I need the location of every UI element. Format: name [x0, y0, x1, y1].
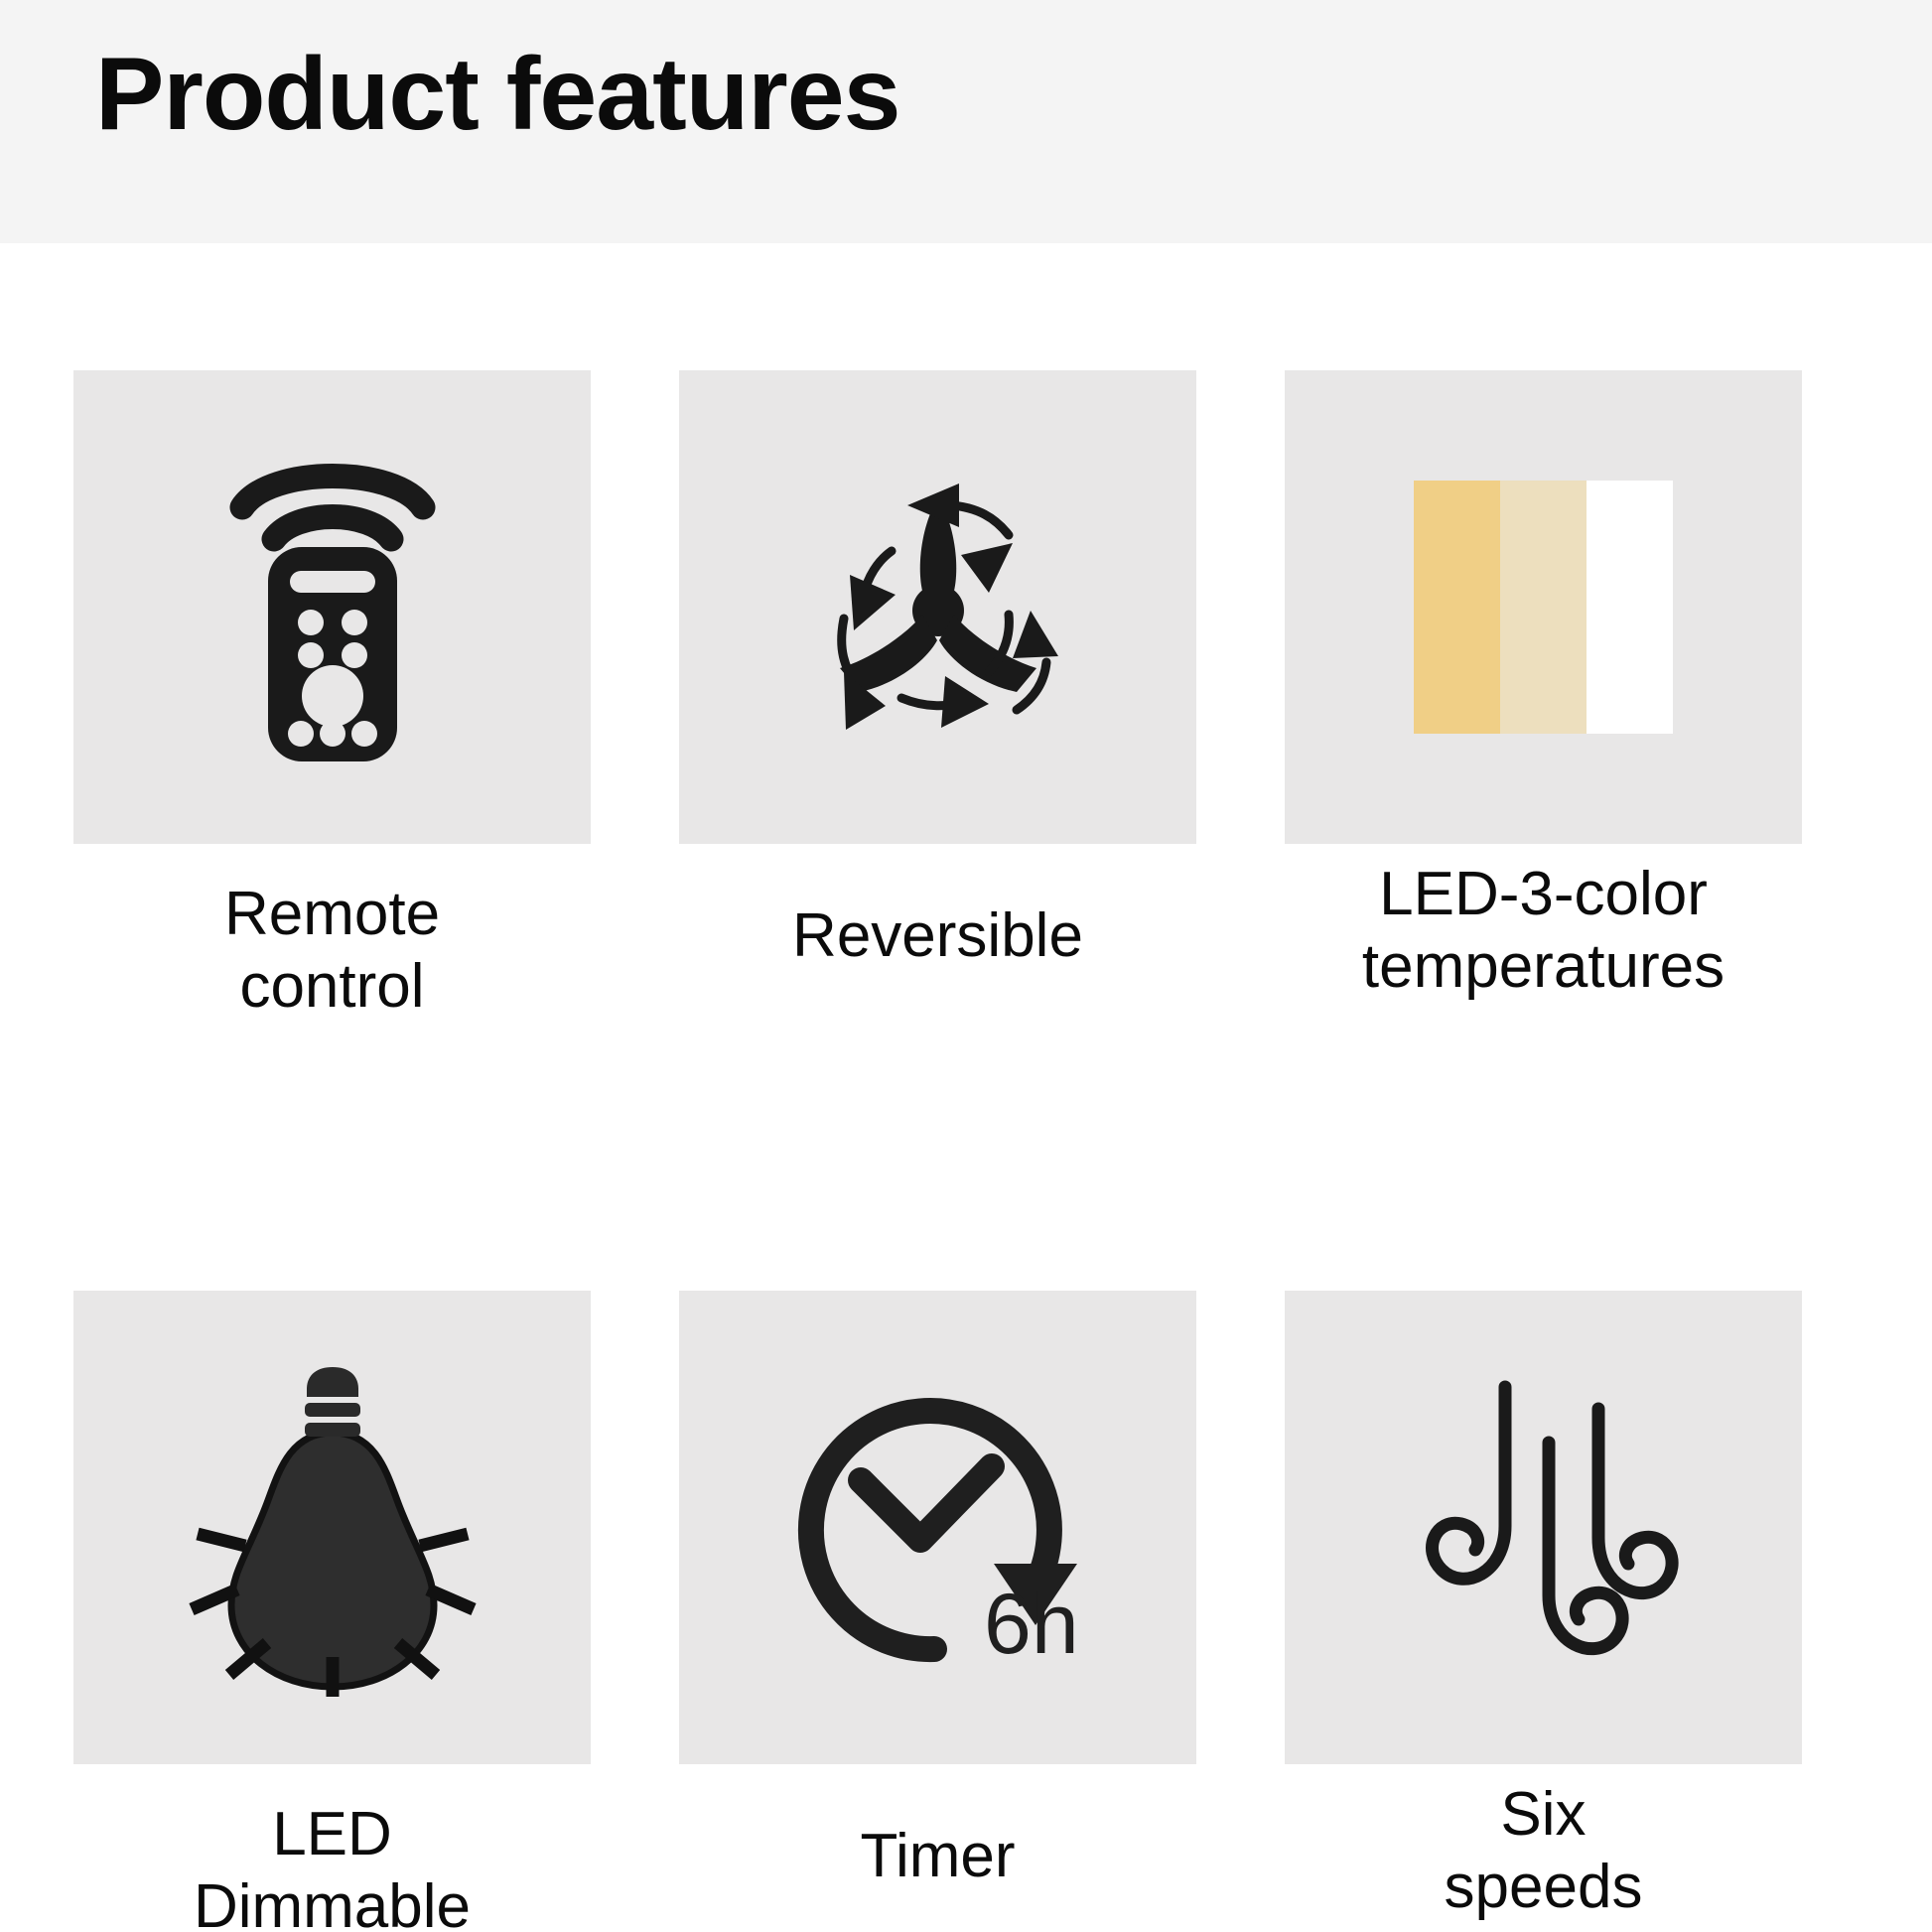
feature-icon-tile	[679, 370, 1196, 844]
swatch-warm-white	[1414, 481, 1500, 734]
feature-icon-tile: 6h	[679, 1291, 1196, 1764]
feature-card-reversible[interactable]: Reversible	[679, 370, 1196, 1023]
swatch-neutral-white	[1500, 481, 1587, 734]
feature-label: LED-3-color temperatures	[1285, 844, 1802, 1003]
timer-badge-text: 6h	[984, 1577, 1079, 1667]
feature-icon-tile	[73, 370, 591, 844]
feature-label: LED Dimmable	[73, 1764, 591, 1932]
airflow-speed-icon	[1400, 1379, 1688, 1677]
feature-icon-tile	[1285, 370, 1802, 844]
timer-clock-arrow-icon: 6h	[789, 1389, 1087, 1667]
led-color-temperature-swatches-icon	[1414, 481, 1673, 734]
features-grid: Remote control	[73, 370, 1802, 1932]
remote-control-icon	[218, 444, 447, 771]
feature-icon-tile	[73, 1291, 591, 1764]
feature-card-remote-control[interactable]: Remote control	[73, 370, 591, 1023]
product-features-page: Product features	[0, 0, 1932, 1932]
feature-label: Remote control	[73, 844, 591, 1023]
light-bulb-dimmable-icon	[184, 1359, 482, 1697]
feature-card-led-dimmable[interactable]: LED Dimmable	[73, 1291, 591, 1932]
feature-card-six-speeds[interactable]: Six speeds	[1285, 1291, 1802, 1932]
feature-label: Timer	[679, 1764, 1196, 1892]
feature-label: Reversible	[679, 844, 1196, 972]
reversible-fan-icon	[774, 444, 1102, 771]
feature-label: Six speeds	[1285, 1764, 1802, 1923]
feature-card-timer[interactable]: 6h Timer	[679, 1291, 1196, 1932]
page-title: Product features	[95, 38, 899, 151]
feature-icon-tile	[1285, 1291, 1802, 1764]
feature-card-led-color-temperatures[interactable]: LED-3-color temperatures	[1285, 370, 1802, 1023]
swatch-cool-white	[1587, 481, 1673, 734]
